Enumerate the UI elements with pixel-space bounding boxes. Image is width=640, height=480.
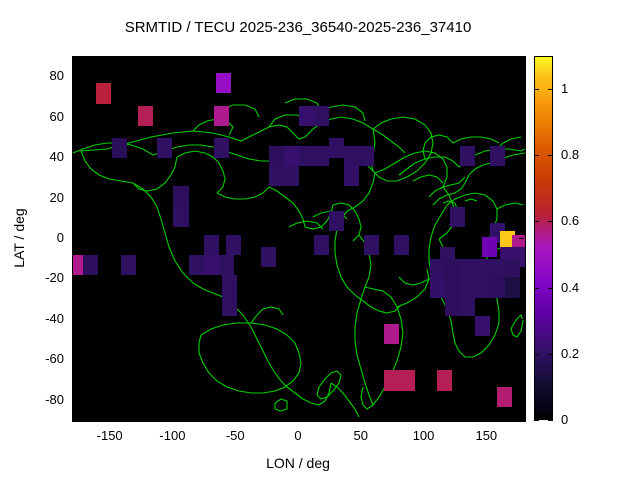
plot-root: SRMTID / TECU 2025-236_36540-2025-236_37…: [0, 0, 640, 480]
data-cell: [204, 235, 219, 255]
x-axis-tick: [424, 56, 425, 61]
y-axis-tick: [519, 198, 524, 199]
data-cell: [138, 106, 153, 126]
data-cell: [189, 255, 204, 275]
data-cell: [299, 146, 314, 166]
y-axis-tick: [519, 76, 524, 77]
y-axis-title: LAT / deg: [11, 193, 27, 283]
colorbar-tick: [548, 221, 553, 222]
colorbar-tick-label: 0: [561, 412, 568, 427]
data-cell: [445, 296, 460, 316]
colorbar-tick: [534, 221, 539, 222]
data-cell: [226, 235, 241, 255]
y-axis-tick-label: 60: [20, 109, 64, 124]
colorbar-tick-label: 1: [561, 81, 568, 96]
data-cell: [490, 146, 505, 166]
data-cell: [384, 324, 399, 344]
data-cell: [216, 73, 231, 93]
data-cell: [121, 255, 136, 275]
x-axis-tick: [361, 415, 362, 420]
data-cell: [329, 138, 344, 158]
x-axis-tick: [235, 415, 236, 420]
y-axis-tick: [72, 198, 77, 199]
x-axis-tick: [172, 56, 173, 61]
data-cell: [269, 146, 284, 166]
plot-area[interactable]: [72, 56, 526, 422]
x-axis-tick: [235, 56, 236, 61]
x-axis-tick: [361, 56, 362, 61]
y-axis-tick: [72, 238, 77, 239]
data-cell: [344, 166, 359, 186]
data-cell: [96, 83, 111, 103]
data-cell: [314, 235, 329, 255]
data-cell: [344, 146, 359, 166]
data-cell: [497, 387, 512, 407]
data-cell: [214, 106, 229, 126]
y-axis-tick-label: 40: [20, 149, 64, 164]
colorbar-tick-label: 0.6: [561, 213, 579, 228]
y-axis-tick: [72, 319, 77, 320]
x-axis-tick-label: -50: [205, 428, 265, 443]
page-title: SRMTID / TECU 2025-236_36540-2025-236_37…: [0, 19, 596, 36]
data-cell: [72, 255, 83, 275]
colorbar-tick: [534, 288, 539, 289]
data-cell: [173, 207, 188, 227]
data-cell: [399, 370, 414, 390]
y-axis-tick: [72, 117, 77, 118]
colorbar-tick: [548, 155, 553, 156]
x-axis-tick: [298, 56, 299, 61]
colorbar-tick: [534, 89, 539, 90]
data-cell: [314, 146, 329, 166]
x-axis-tick: [486, 56, 487, 61]
y-axis-tick: [72, 76, 77, 77]
data-cell: [475, 277, 490, 297]
x-axis-tick-label: -150: [80, 428, 140, 443]
colorbar-tick-label: 0.2: [561, 346, 579, 361]
y-axis-tick: [519, 157, 524, 158]
x-axis-tick-label: 100: [394, 428, 454, 443]
data-cell: [490, 259, 505, 279]
x-axis-tick: [298, 415, 299, 420]
data-cell: [219, 255, 234, 275]
data-cells-layer: [73, 57, 525, 421]
data-cell: [364, 235, 379, 255]
y-axis-tick: [519, 359, 524, 360]
x-axis-tick-label: 0: [268, 428, 328, 443]
y-axis-tick: [72, 157, 77, 158]
data-cell: [284, 166, 299, 186]
x-axis-tick: [110, 56, 111, 61]
x-axis-tick-label: -100: [142, 428, 202, 443]
data-cell: [437, 370, 452, 390]
colorbar-tick: [548, 89, 553, 90]
data-cell: [384, 370, 399, 390]
data-cell: [505, 259, 520, 279]
data-cell: [204, 255, 219, 275]
data-cell: [284, 146, 299, 166]
y-axis-tick: [519, 117, 524, 118]
data-cell: [157, 138, 172, 158]
x-axis-tick: [486, 415, 487, 420]
data-cell: [475, 316, 490, 336]
data-cell: [222, 296, 237, 316]
x-axis-tick-label: 50: [331, 428, 391, 443]
y-axis-tick: [72, 278, 77, 279]
y-axis-tick-label: -80: [20, 392, 64, 407]
data-cell: [430, 277, 445, 297]
x-axis-title: LON / deg: [0, 455, 596, 471]
x-axis-tick: [424, 415, 425, 420]
data-cell: [430, 259, 445, 279]
data-cell: [460, 296, 475, 316]
data-cell: [222, 275, 237, 295]
data-cell: [214, 138, 229, 158]
y-axis-tick: [72, 359, 77, 360]
data-cell: [445, 259, 460, 279]
data-cell: [299, 106, 314, 126]
y-axis-tick: [519, 278, 524, 279]
y-axis-tick: [519, 319, 524, 320]
data-cell: [450, 207, 465, 227]
colorbar[interactable]: [534, 56, 553, 420]
data-cell: [445, 277, 460, 297]
data-cell: [475, 259, 490, 279]
data-cell: [482, 237, 497, 257]
y-axis-tick-label: 80: [20, 68, 64, 83]
data-cell: [329, 211, 344, 231]
y-axis-tick: [72, 400, 77, 401]
data-cell: [269, 166, 284, 186]
data-cell: [394, 235, 409, 255]
colorbar-tick: [534, 155, 539, 156]
y-axis-tick: [519, 238, 524, 239]
data-cell: [460, 277, 475, 297]
x-axis-tick: [110, 415, 111, 420]
colorbar-tick: [548, 288, 553, 289]
data-cell: [460, 259, 475, 279]
colorbar-tick: [534, 354, 539, 355]
data-cell: [505, 277, 520, 297]
data-cell: [460, 146, 475, 166]
colorbar-tick: [534, 420, 539, 421]
data-cell: [314, 106, 329, 126]
x-axis-tick: [172, 415, 173, 420]
data-cell: [490, 277, 505, 297]
x-axis-tick-label: 150: [456, 428, 516, 443]
data-cell: [83, 255, 98, 275]
colorbar-tick-label: 0.4: [561, 280, 579, 295]
y-axis-tick-label: -40: [20, 311, 64, 326]
y-axis-tick-label: -60: [20, 351, 64, 366]
data-cell: [112, 138, 127, 158]
colorbar-tick-label: 0.8: [561, 147, 579, 162]
data-cell: [261, 247, 276, 267]
colorbar-tick: [548, 354, 553, 355]
colorbar-tick: [548, 420, 553, 421]
data-cell: [173, 186, 188, 206]
y-axis-tick: [519, 400, 524, 401]
data-cell: [359, 146, 374, 166]
